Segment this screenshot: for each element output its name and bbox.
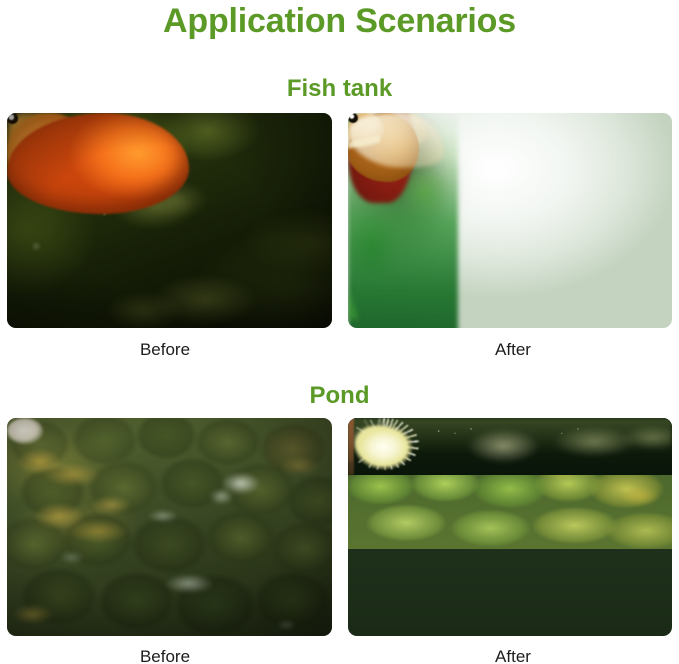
fish-tank-before-photo [7,113,332,328]
vignette-overlay [7,113,332,328]
pond-before-caption: Before [95,646,235,664]
pond-after-caption: After [443,646,583,664]
section-heading-pond: Pond [0,381,679,411]
application-scenarios-infographic: Application Scenarios Fish tank Before A… [0,0,679,664]
pond-before-photo [7,418,332,636]
vignette-overlay [7,418,332,636]
fish-tank-after-photo [348,113,672,328]
angelfish-eye-shape [348,113,358,123]
fish-tank-after-caption: After [443,339,583,361]
page-title: Application Scenarios [0,1,679,41]
water-droplets-layer [348,418,672,636]
pond-after-photo [348,418,672,636]
fish-tank-before-caption: Before [95,339,235,361]
section-heading-fish-tank: Fish tank [0,74,679,104]
